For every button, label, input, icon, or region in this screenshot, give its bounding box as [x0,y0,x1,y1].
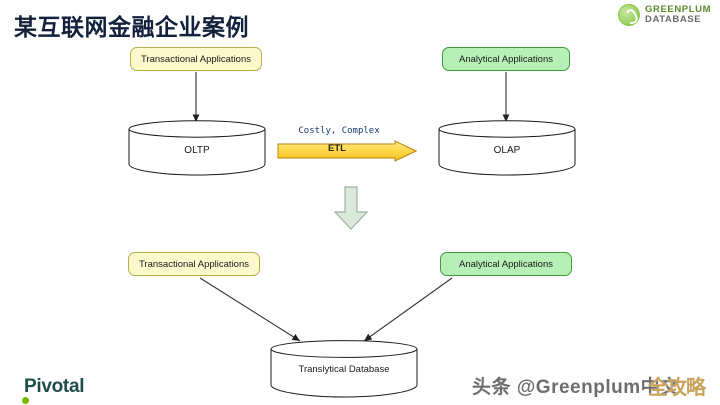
olap-label: OLAP [438,145,576,156]
greenplum-wordmark: GREENPLUM DATABASE [645,5,711,25]
pivotal-logo: Pivotal [24,376,84,398]
oltp-database-cylinder[interactable]: OLTP [128,120,266,176]
down-arrow-icon [334,186,368,230]
slide-canvas: 某互联网金融企业案例 GREENPLUM DATABASE Transactio… [0,0,720,405]
etl-label: ETL [277,143,397,154]
pivotal-dot-icon [22,397,29,404]
analytical-applications-label-top: Analytical Applications [459,54,553,65]
watermark-overlay: 全攻略 [648,371,705,400]
transactional-applications-label-top: Transactional Applications [141,54,251,65]
translytical-database-cylinder[interactable]: Translytical Database [270,340,418,398]
olap-database-cylinder[interactable]: OLAP [438,120,576,176]
analytical-applications-box-bottom[interactable]: Analytical Applications [440,252,572,276]
etl-arrow-group[interactable]: Costly, Complex ETL [277,126,417,164]
transactional-applications-box-top[interactable]: Transactional Applications [130,47,262,71]
translytical-database-label: Translytical Database [270,364,418,375]
transactional-applications-box-bottom[interactable]: Transactional Applications [128,252,260,276]
greenplum-wordmark-line2: DATABASE [645,15,711,25]
greenplum-database-logo: GREENPLUM DATABASE [618,4,711,26]
etl-caption: Costly, Complex [277,126,401,136]
analytical-applications-box-top[interactable]: Analytical Applications [442,47,570,71]
page-title: 某互联网金融企业案例 [14,8,249,42]
analytical-applications-label-bottom: Analytical Applications [459,259,553,270]
greenplum-leaf-icon [618,4,640,26]
oltp-label: OLTP [128,145,266,156]
transactional-applications-label-bottom: Transactional Applications [139,259,249,270]
